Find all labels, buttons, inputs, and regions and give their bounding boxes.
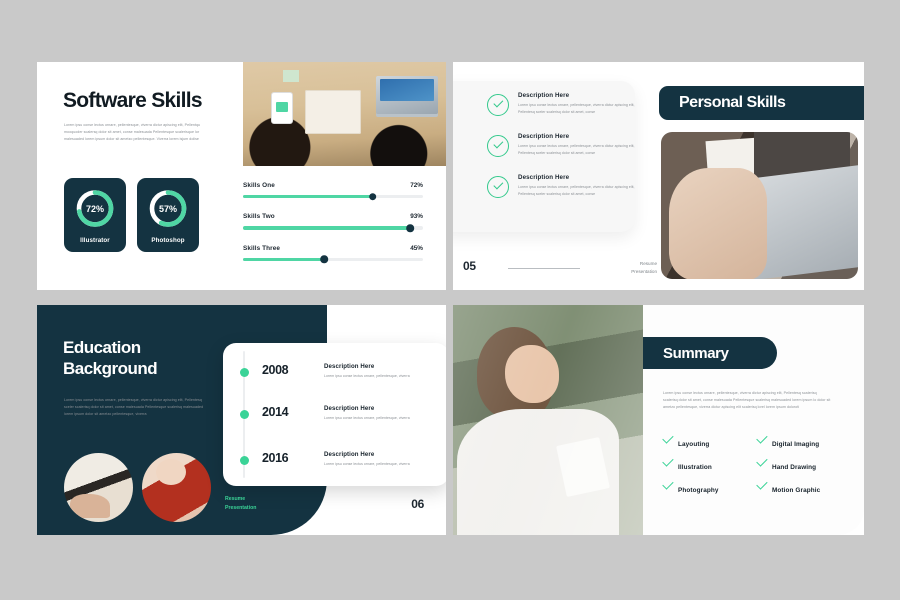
skill-bar-row[interactable]: Skills Two 93% [243,213,423,229]
slide-title-line-1: Education [63,337,157,358]
donut-chart-photoshop: 57% [147,187,190,230]
timeline-year: 2008 [262,363,288,377]
woman-reading-tablet-photo [453,305,643,535]
timeline-body: Lorem ipsu conse lectus ornare, pellente… [324,373,440,380]
timeline-heading: Description Here [324,451,440,458]
slide-personal-skills[interactable]: Description Here Lorem ipsu conse lectus… [453,62,864,290]
feature-heading: Description Here [518,174,635,181]
ring-label-photoshop: Photoshop [137,237,199,244]
skill-bar-fill [243,195,373,198]
checklist-label: Motion Graphic [772,487,820,494]
phone-prop [271,92,293,124]
skill-bar-track[interactable] [243,258,423,261]
timeline-year: 2016 [262,451,288,465]
footer-line-1: Resume [225,495,256,504]
check-icon [756,432,767,443]
title-banner: Summary [643,337,777,369]
timeline-dot-icon [240,410,249,419]
slide-title: Summary [663,345,729,362]
donut-chart-illustrator: 72% [74,187,117,230]
footer-divider [508,268,580,269]
checklist-item: Hand Drawing [757,456,853,474]
footer-line-2: Presentation [225,504,256,513]
skill-bar-row[interactable]: Skills Three 45% [243,245,423,261]
summary-panel: Summary Lorem ipsu conse lectus ornare, … [643,305,864,535]
check-circle-icon [487,176,509,198]
feature-item: Description Here Lorem ipsu conse lectus… [487,92,635,116]
checklist-item: Layouting [663,433,759,451]
timeline-body: Lorem ipsu conse lectus ornare, pellente… [324,415,440,422]
footer-text: Resume Presentation [225,495,256,513]
checklist-label: Illustration [678,464,712,471]
slide-title: Education Background [63,337,157,380]
slide-summary[interactable]: Summary Lorem ipsu conse lectus ornare, … [453,305,864,535]
check-icon [756,478,767,489]
timeline-dot-icon [240,368,249,377]
footer-text: Resume Presentation [591,260,657,276]
skill-bar-percent: 45% [410,245,423,252]
check-circle-icon [487,135,509,157]
checklist-item: Photography [663,479,759,497]
hands-typing-laptop-photo [661,132,858,279]
checklist-label: Layouting [678,441,709,448]
title-banner: Personal Skills [659,86,864,120]
checklist-label: Digital Imaging [772,441,819,448]
ring-value-photoshop: 57% [147,187,190,230]
person-red-circle-photo [142,453,211,522]
study-desk-circle-photo [64,453,133,522]
timeline-dot-icon [240,456,249,465]
skill-bar-handle[interactable] [369,193,377,201]
slide-gallery: Software Skills Lorem ipsu conse lectus … [0,0,900,600]
skill-bar-percent: 72% [410,182,423,189]
glass-reflection-overlay [453,305,643,535]
ring-card-photoshop: 57% Photoshop [137,178,199,252]
skill-bar-percent: 93% [410,213,423,220]
checklist-item: Illustration [663,456,759,474]
skill-bar-handle[interactable] [407,224,415,232]
slide-body-text: Lorem ipsu conse lectus ornare, pellente… [64,397,204,418]
team-working-desk-photo [243,62,446,166]
footer-line-1: Resume [591,260,657,268]
sticky-note [283,70,299,82]
check-circle-icon [487,94,509,116]
checklist-item: Motion Graphic [757,479,853,497]
page-number: 05 [463,259,476,273]
skill-bar-fill [243,258,324,261]
timeline-card: 2008 Description Here Lorem ipsu conse l… [223,343,446,486]
checklist-item: Digital Imaging [757,433,853,451]
slide-title-line-2: Background [63,358,157,379]
laptop-prop [376,76,438,114]
skill-bar-label: Skills One [243,182,423,189]
timeline-heading: Description Here [324,363,440,370]
feature-body: Lorem ipsu conse lectus ornare, pellente… [518,143,635,157]
feature-body: Lorem ipsu conse lectus ornare, pellente… [518,102,635,116]
timeline-heading: Description Here [324,405,440,412]
skill-bar-fill [243,226,410,229]
skill-bar-track[interactable] [243,226,423,229]
notebook-prop [305,90,361,134]
arm-prop [669,168,767,279]
skill-bar-track[interactable] [243,195,423,198]
slide-title: Personal Skills [679,94,785,112]
slide-body-text: Lorem ipsu conse lectus ornare, pellente… [663,390,831,411]
slide-education-background[interactable]: Education Background Lorem ipsu conse le… [37,305,446,535]
skill-bar-label: Skills Three [243,245,423,252]
checklist-label: Photography [678,487,719,494]
ring-value-illustrator: 72% [74,187,117,230]
check-icon [662,455,673,466]
skill-bar-handle[interactable] [320,256,328,264]
slide-title: Software Skills [63,89,202,113]
skill-bar-row[interactable]: Skills One 72% [243,182,423,198]
feature-item: Description Here Lorem ipsu conse lectus… [487,174,635,198]
check-icon [756,455,767,466]
feature-item: Description Here Lorem ipsu conse lectus… [487,133,635,157]
ring-card-illustrator: 72% Illustrator [64,178,126,252]
footer-line-2: Presentation [591,268,657,276]
skill-bar-label: Skills Two [243,213,423,220]
check-icon [662,432,673,443]
page-number: 06 [411,497,424,511]
feature-body: Lorem ipsu conse lectus ornare, pellente… [518,184,635,198]
feature-heading: Description Here [518,92,635,99]
timeline-body: Lorem ipsu conse lectus ornare, pellente… [324,461,440,468]
check-icon [662,478,673,489]
skill-bar-list: Skills One 72% Skills Two 93% Skills Thr… [243,182,423,261]
slide-body-text: Lorem ipsu conse lectus ornare, pellente… [64,122,214,143]
checklist-label: Hand Drawing [772,464,816,471]
ring-label-illustrator: Illustrator [64,237,126,244]
feature-heading: Description Here [518,133,635,140]
slide-footer: 05 Resume Presentation [463,259,663,279]
slide-software-skills[interactable]: Software Skills Lorem ipsu conse lectus … [37,62,446,290]
timeline-year: 2014 [262,405,288,419]
